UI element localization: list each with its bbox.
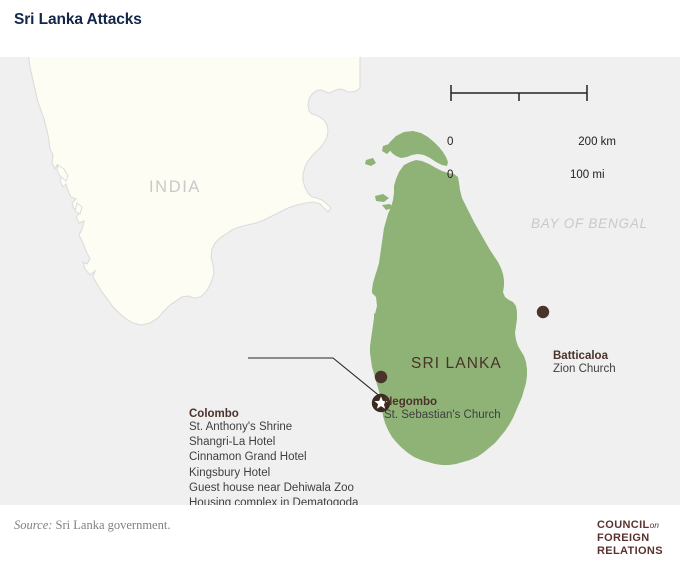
header-bar: Sri Lanka Attacks <box>0 0 680 57</box>
sri-lanka-islet-mannar-b <box>375 194 389 202</box>
colombo-leader-line <box>248 358 387 402</box>
callout-colombo-site: Guest house near Dehiwala Zoo <box>189 481 358 496</box>
cfr-logo-on: on <box>650 520 659 530</box>
callout-batticaloa[interactable]: Batticaloa Zion Church <box>553 350 616 377</box>
callout-batticaloa-city: Batticaloa <box>553 350 616 362</box>
callout-colombo-city: Colombo <box>189 408 358 420</box>
callout-colombo-site: Housing complex in Dematogoda <box>189 496 358 505</box>
callout-colombo-site: Kingsbury Hotel <box>189 466 358 481</box>
scale-mi-start: 0 <box>447 169 453 181</box>
sri-lanka-islet-mannar-a <box>365 158 376 166</box>
scale-km-end: 200 km <box>578 136 616 148</box>
source-text: Sri Lanka government. <box>52 518 170 532</box>
callout-colombo[interactable]: Colombo St. Anthony's Shrine Shangri-La … <box>189 408 358 505</box>
cfr-logo[interactable]: COUNCILon FOREIGN RELATIONS <box>597 519 663 557</box>
batticaloa-marker[interactable] <box>537 306 549 318</box>
cfr-logo-line-3: RELATIONS <box>597 545 663 558</box>
scale-mi-end: 100 mi <box>570 169 605 181</box>
callout-colombo-site: St. Anthony's Shrine <box>189 420 358 435</box>
cfr-logo-line-2: FOREIGN <box>597 532 663 545</box>
india-landmass <box>28 57 360 325</box>
map-canvas[interactable]: INDIA BAY OF BENGAL INDIAN OCEAN SRI LAN… <box>0 57 680 505</box>
callout-negombo-site: St. Sebastian's Church <box>384 408 501 423</box>
source-label: Source: <box>14 518 52 532</box>
footer-bar: Source: Sri Lanka government. COUNCILon … <box>0 505 680 565</box>
callout-negombo[interactable]: Negombo St. Sebastian's Church <box>384 396 501 423</box>
map-infographic: Sri Lanka Attacks <box>0 0 680 565</box>
sri-lanka-lagoon-south <box>371 449 379 469</box>
cfr-logo-council: COUNCIL <box>597 519 650 531</box>
cfr-logo-line-1: COUNCILon <box>597 519 663 532</box>
callout-batticaloa-site: Zion Church <box>553 362 616 377</box>
scale-km-start: 0 <box>447 136 453 148</box>
negombo-marker[interactable] <box>375 371 387 383</box>
callout-colombo-site: Cinnamon Grand Hotel <box>189 450 358 465</box>
scale-bar: 0 200 km 0 100 mi <box>447 136 610 188</box>
callout-colombo-site: Shangri-La Hotel <box>189 435 358 450</box>
callout-negombo-city: Negombo <box>384 396 501 408</box>
page-title: Sri Lanka Attacks <box>14 11 142 29</box>
source-note: Source: Sri Lanka government. <box>14 518 170 533</box>
scale-bar-graphic <box>451 85 587 101</box>
